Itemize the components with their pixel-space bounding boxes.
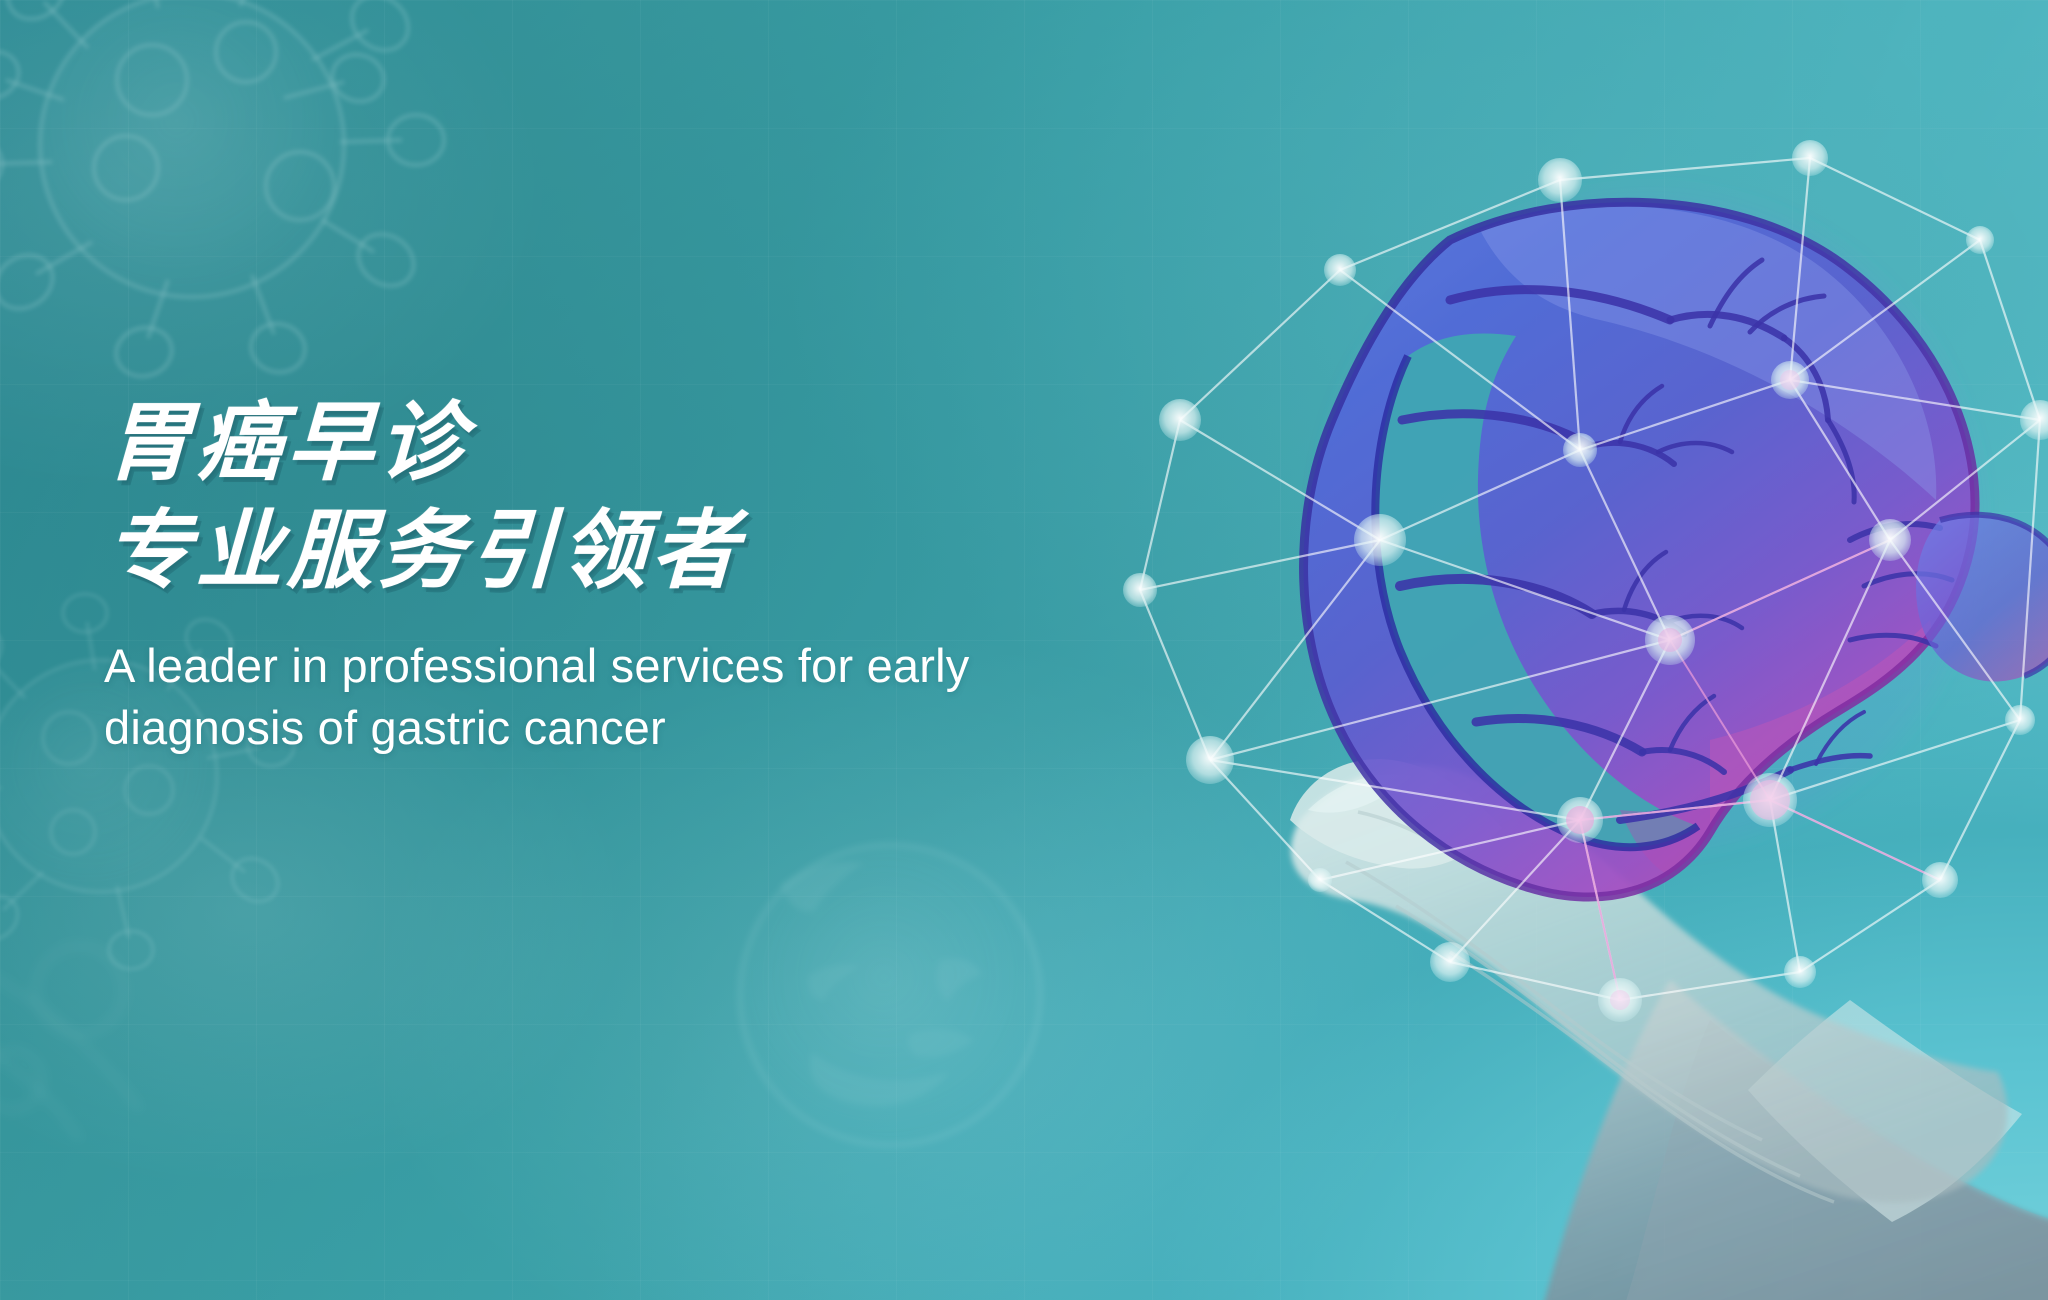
headline-cn-line-1: 胃癌早诊: [104, 400, 1107, 488]
stomach-hand-illustration: [1150, 120, 2048, 1300]
subtitle-en-line-1: A leader in professional services for ea…: [104, 635, 1104, 696]
hero-text-block: 胃癌早诊 专业服务引领者 A leader in professional se…: [104, 400, 1104, 758]
subtitle-en: A leader in professional services for ea…: [104, 635, 1104, 757]
hero-banner: 胃癌早诊 专业服务引领者 A leader in professional se…: [0, 0, 2048, 1300]
stomach-organ-icon: [1304, 190, 2048, 897]
subtitle-en-line-2: diagnosis of gastric cancer: [104, 697, 1104, 758]
headline-cn-line-2: 专业服务引领者: [104, 508, 1107, 596]
